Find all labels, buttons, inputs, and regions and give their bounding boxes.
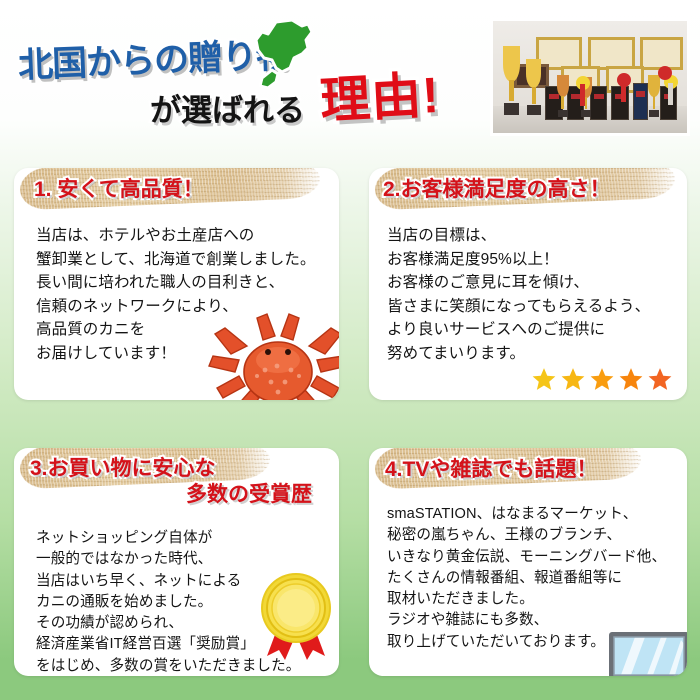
promo-banner: 北国からの贈り物 が選ばれる 理由! [0, 0, 700, 700]
card-body: 当店の目標は、 お客様満足度95%以上！ お客様のご意見に耳を傾け、 皆さまに笑… [387, 224, 650, 365]
card-title: 3.お買い物に安心な 多数の受賞歴 [30, 456, 316, 507]
header-reason-word: 理由! [318, 55, 441, 133]
reason-card-1: 1. 安くて高品質！ 当店は、ホテルやお土産店への 蟹卸業として、北海道で創業し… [14, 168, 339, 400]
star-icon [531, 366, 557, 392]
star-icon [647, 366, 673, 392]
awards-photo [490, 18, 690, 136]
reason-card-4: 4.TVや雑誌でも話題！ smaSTATION、はなまるマーケット、 秘密の嵐ち… [369, 448, 687, 676]
card-title: 1. 安くて高品質！ [34, 178, 204, 203]
card-title-line-1: 3.お買い物に安心な [30, 457, 216, 480]
card-title: 2.お客様満足度の高さ！ [383, 178, 611, 203]
star-icon [560, 366, 586, 392]
header-subtitle: が選ばれる [150, 85, 305, 130]
star-icon [618, 366, 644, 392]
card-title: 4.TVや雑誌でも話題！ [385, 458, 597, 483]
banner-header: 北国からの贈り物 が選ばれる 理由! [0, 0, 700, 150]
tv-monitor-icon [607, 630, 687, 676]
gold-medal-icon [257, 570, 335, 662]
king-crab-icon [205, 302, 339, 400]
reason-card-2: 2.お客様満足度の高さ！ 当店の目標は、 お客様満足度95%以上！ お客様のご意… [369, 168, 687, 400]
five-star-rating [531, 366, 673, 392]
brand-logo: 北国からの贈り物 [18, 18, 288, 90]
card-title-line-2: 多数の受賞歴 [30, 482, 316, 508]
reason-card-3: 3.お買い物に安心な 多数の受賞歴 ネットショッピング自体が 一般的ではなかった… [14, 448, 339, 676]
star-icon [589, 366, 615, 392]
